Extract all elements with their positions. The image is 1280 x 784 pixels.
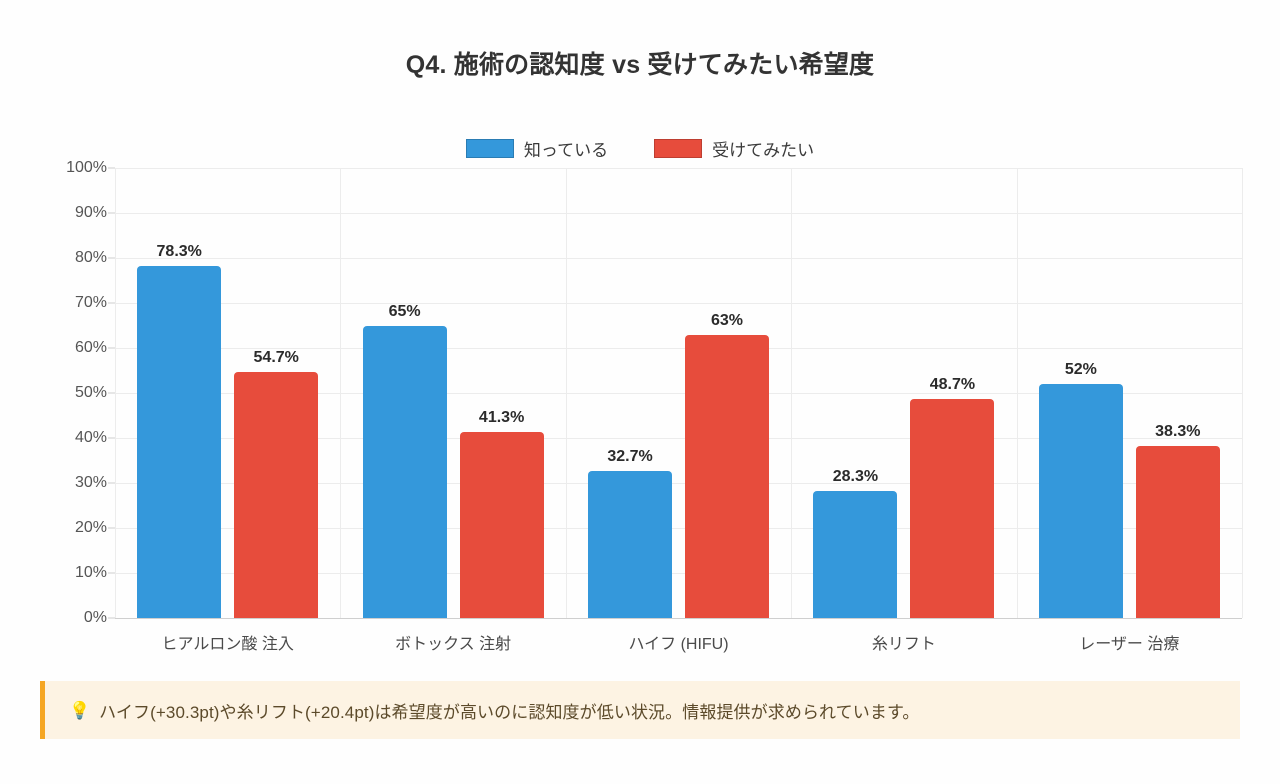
y-axis-tick-mark bbox=[108, 528, 115, 529]
bar-value-label: 65% bbox=[389, 303, 421, 321]
y-axis-tick-mark bbox=[108, 573, 115, 574]
x-axis-category-labels: ヒアルロン酸 注入ボトックス 注射ハイフ (HIFU)糸リフトレーザー 治療 bbox=[115, 630, 1242, 654]
y-axis-tick-mark bbox=[108, 618, 115, 619]
y-axis-tick-mark bbox=[108, 438, 115, 439]
page-title: Q4. 施術の認知度 vs 受けてみたい希望度 bbox=[0, 45, 1280, 81]
bar-pair: 65%41.3% bbox=[340, 168, 565, 618]
bar-value-label: 78.3% bbox=[157, 243, 202, 261]
lightbulb-icon: 💡 bbox=[69, 702, 90, 719]
bar-known[interactable]: 52% bbox=[1039, 384, 1123, 618]
bar-known[interactable]: 32.7% bbox=[588, 471, 672, 618]
bar-value-label: 54.7% bbox=[254, 349, 299, 367]
bar-value-label: 28.3% bbox=[833, 468, 878, 486]
bar-known[interactable]: 78.3% bbox=[137, 266, 221, 618]
y-axis-tick-mark bbox=[108, 483, 115, 484]
bar-pair: 32.7%63% bbox=[566, 168, 791, 618]
plot-area: 78.3%54.7%65%41.3%32.7%63%28.3%48.7%52%3… bbox=[115, 168, 1242, 618]
y-axis-tick-mark bbox=[108, 213, 115, 214]
bar-group: 52%38.3% bbox=[1017, 168, 1242, 618]
bar-want[interactable]: 41.3% bbox=[460, 432, 544, 618]
bar-value-label: 38.3% bbox=[1155, 423, 1200, 441]
gridline bbox=[115, 618, 1242, 619]
chart-page: Q4. 施術の認知度 vs 受けてみたい希望度 知っている 受けてみたい 100… bbox=[0, 0, 1280, 784]
x-axis-category-label: ヒアルロン酸 注入 bbox=[115, 630, 340, 654]
insight-callout: 💡 ハイフ(+30.3pt)や糸リフト(+20.4pt)は希望度が高いのに認知度… bbox=[40, 681, 1240, 739]
y-axis-tick-mark bbox=[108, 168, 115, 169]
x-axis-category-label: ハイフ (HIFU) bbox=[566, 630, 791, 654]
y-axis-tick-mark bbox=[108, 303, 115, 304]
bar-want[interactable]: 54.7% bbox=[234, 372, 318, 618]
legend-item-want[interactable]: 受けてみたい bbox=[654, 136, 814, 161]
legend-swatch-known bbox=[466, 139, 514, 158]
y-axis-tick-mark bbox=[108, 348, 115, 349]
y-axis-tick-marks bbox=[0, 168, 115, 618]
legend-swatch-want bbox=[654, 139, 702, 158]
bar-pair: 52%38.3% bbox=[1017, 168, 1242, 618]
category-separator bbox=[1242, 168, 1243, 618]
x-axis-category-label: ボトックス 注射 bbox=[340, 630, 565, 654]
bar-want[interactable]: 48.7% bbox=[910, 399, 994, 618]
legend-label-want: 受けてみたい bbox=[712, 136, 814, 161]
bar-groups: 78.3%54.7%65%41.3%32.7%63%28.3%48.7%52%3… bbox=[115, 168, 1242, 618]
legend-item-known[interactable]: 知っている bbox=[466, 136, 608, 161]
x-axis-category-label: 糸リフト bbox=[791, 630, 1016, 654]
bar-group: 32.7%63% bbox=[566, 168, 791, 618]
insight-callout-text: ハイフ(+30.3pt)や糸リフト(+20.4pt)は希望度が高いのに認知度が低… bbox=[99, 698, 919, 723]
chart-legend: 知っている 受けてみたい bbox=[0, 136, 1280, 161]
bar-group: 65%41.3% bbox=[340, 168, 565, 618]
y-axis-tick-mark bbox=[108, 258, 115, 259]
x-axis-category-label: レーザー 治療 bbox=[1017, 630, 1242, 654]
bar-value-label: 52% bbox=[1065, 361, 1097, 379]
bar-group: 28.3%48.7% bbox=[791, 168, 1016, 618]
bar-known[interactable]: 65% bbox=[363, 326, 447, 619]
bar-value-label: 48.7% bbox=[930, 376, 975, 394]
bar-want[interactable]: 63% bbox=[685, 335, 769, 619]
bar-want[interactable]: 38.3% bbox=[1136, 446, 1220, 618]
legend-label-known: 知っている bbox=[524, 136, 608, 161]
bar-known[interactable]: 28.3% bbox=[813, 491, 897, 618]
bar-group: 78.3%54.7% bbox=[115, 168, 340, 618]
bar-pair: 28.3%48.7% bbox=[791, 168, 1016, 618]
bar-value-label: 41.3% bbox=[479, 409, 524, 427]
bar-value-label: 32.7% bbox=[607, 448, 652, 466]
y-axis-tick-mark bbox=[108, 393, 115, 394]
bar-value-label: 63% bbox=[711, 312, 743, 330]
bar-pair: 78.3%54.7% bbox=[115, 168, 340, 618]
